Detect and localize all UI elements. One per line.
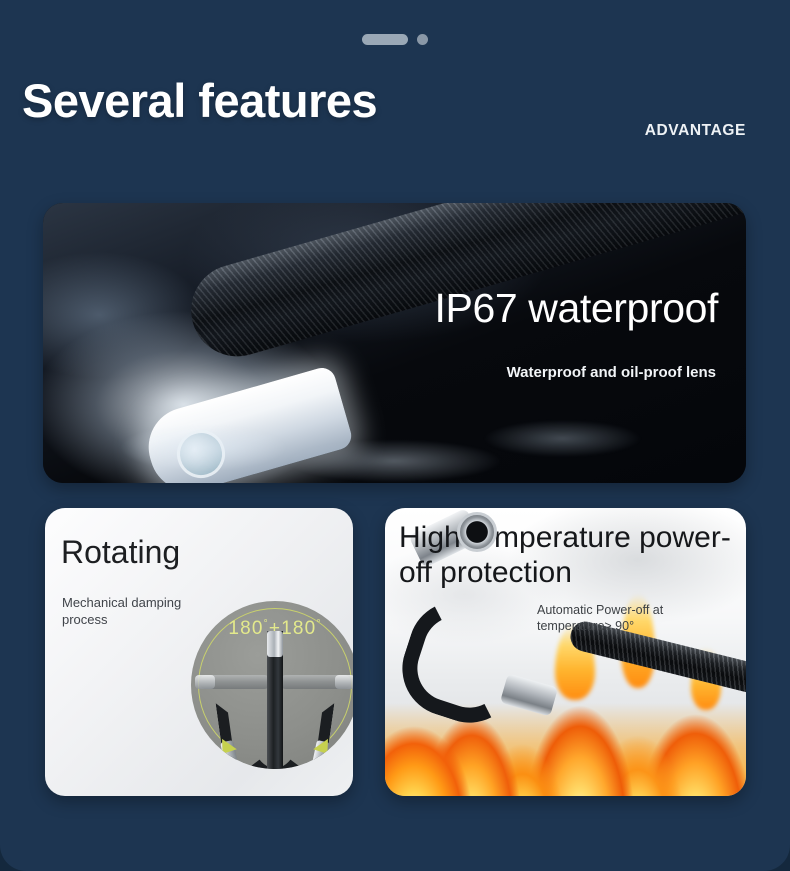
- dial-angle-first: 180: [228, 618, 263, 639]
- pagination-dot-2[interactable]: [417, 34, 428, 45]
- page-eyebrow-advantage: ADVANTAGE: [645, 122, 746, 140]
- temperature-card-title: High temperature power-off protection: [399, 520, 743, 590]
- feature-card-ip67-waterproof[interactable]: IP67 waterproof Waterproof and oil-proof…: [43, 203, 746, 483]
- pagination-active-indicator[interactable]: [362, 34, 408, 45]
- waterproof-card-title: IP67 waterproof: [435, 285, 718, 332]
- rotating-card-title: Rotating: [61, 534, 180, 571]
- page-title: Several features: [22, 76, 377, 125]
- waterproof-card-subtitle: Waterproof and oil-proof lens: [507, 364, 716, 381]
- rotation-dial-graphic: 180°+180°: [191, 601, 353, 769]
- feature-card-rotating[interactable]: Rotating Mechanical damping process 180°…: [45, 508, 353, 796]
- degree-symbol-2: °: [316, 619, 321, 630]
- product-feature-page: Several features ADVANTAGE IP67 waterpro…: [0, 0, 790, 871]
- feature-card-high-temperature[interactable]: High temperature power-off protection Au…: [385, 508, 746, 796]
- dial-arm-cap-left: [195, 675, 215, 689]
- carousel-pagination[interactable]: [0, 34, 790, 45]
- temperature-card-subtitle: Automatic Power-off at temperature> 90°: [537, 602, 727, 635]
- dial-angle-second: 180: [281, 618, 316, 639]
- dial-center-tip: [267, 631, 283, 657]
- water-splash-graphic: [103, 398, 663, 483]
- temp-probe-lens-icon: [457, 512, 497, 552]
- rotating-card-subtitle: Mechanical damping process: [62, 594, 212, 628]
- dial-arm-cap-right: [335, 675, 353, 689]
